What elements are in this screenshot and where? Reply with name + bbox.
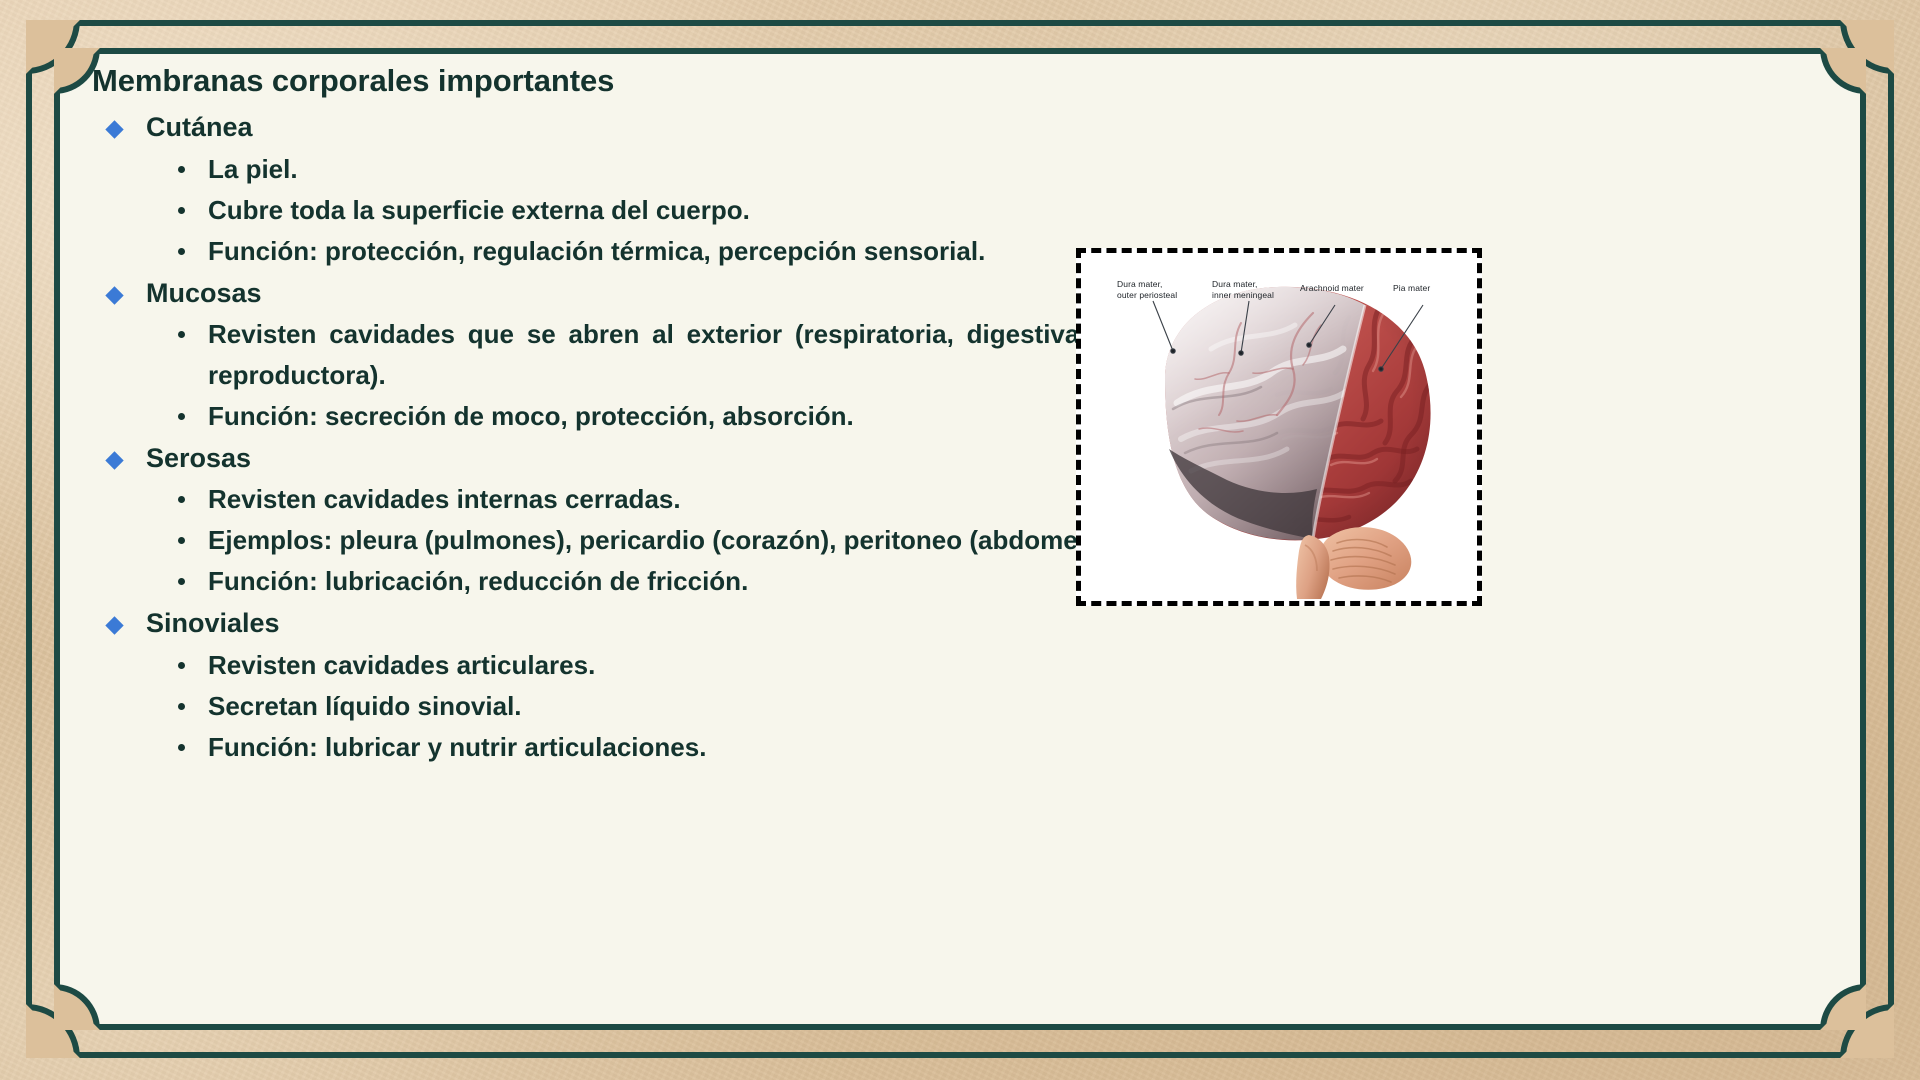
list-item-text: Función: secreción de moco, protección, …: [208, 401, 854, 431]
list-item: Función: lubricar y nutrir articulacione…: [146, 727, 1202, 768]
section-heading: Mucosas: [146, 278, 262, 308]
list-item: Secretan líquido sinovial.: [146, 686, 1202, 727]
dot-bullet-icon: [178, 331, 185, 338]
membrane-list: Cutánea La piel. Cubre toda la superfici…: [92, 106, 1202, 767]
section-heading: Sinoviales: [146, 608, 280, 638]
inner-frame-corner-top-right: [1820, 48, 1866, 94]
list-item: Cubre toda la superficie externa del cue…: [146, 190, 1202, 231]
list-item: Ejemplos: pleura (pulmones), pericardio …: [146, 520, 1202, 561]
section-heading: Serosas: [146, 443, 251, 473]
list-item-text: Cubre toda la superficie externa del cue…: [208, 195, 750, 225]
figure-label-arachnoid: Arachnoid mater: [1300, 283, 1364, 294]
list-item-text: Revisten cavidades internas cerradas.: [208, 484, 681, 514]
dot-bullet-icon: [178, 496, 185, 503]
brain-meninges-illustration: [1081, 253, 1477, 601]
diamond-bullet-icon: [105, 617, 123, 635]
list-item-text: Función: lubricación, reducción de fricc…: [208, 566, 748, 596]
section-mucosas-items: Revisten cavidades que se abren al exter…: [146, 314, 1202, 437]
list-item: La piel.: [146, 149, 1202, 190]
list-item: Revisten cavidades articulares.: [146, 645, 1202, 686]
dot-bullet-icon: [178, 207, 185, 214]
list-item-text: La piel.: [208, 154, 298, 184]
cerebellum-group: [1320, 527, 1411, 590]
section-sinoviales-items: Revisten cavidades articulares. Secretan…: [146, 645, 1202, 768]
inner-frame-corner-bottom-left: [54, 984, 100, 1030]
dot-bullet-icon: [178, 413, 185, 420]
section-serosas-items: Revisten cavidades internas cerradas. Ej…: [146, 479, 1202, 602]
section-heading: Cutánea: [146, 112, 253, 142]
diamond-bullet-icon: [105, 286, 123, 304]
list-item: Función: protección, regulación térmica,…: [146, 231, 1202, 272]
dot-bullet-icon: [178, 703, 185, 710]
page-title: Membranas corporales importantes: [92, 62, 1202, 100]
list-item: Función: lubricación, reducción de fricc…: [146, 561, 1202, 602]
list-item-text: Ejemplos: pleura (pulmones), pericardio …: [208, 525, 1109, 555]
dot-bullet-icon: [178, 662, 185, 669]
dot-bullet-icon: [178, 537, 185, 544]
figure-label-dura-outer: Dura mater, outer periosteal: [1117, 279, 1177, 301]
slide-content: Membranas corporales importantes Cutánea…: [92, 62, 1202, 768]
section-sinoviales: Sinoviales Revisten cavidades articulare…: [92, 602, 1202, 767]
list-item: Revisten cavidades que se abren al exter…: [146, 314, 1202, 396]
diamond-bullet-icon: [105, 121, 123, 139]
dot-bullet-icon: [178, 744, 185, 751]
list-item-text: Revisten cavidades articulares.: [208, 650, 595, 680]
list-item-text: Función: protección, regulación térmica,…: [208, 236, 985, 266]
section-cutanea: Cutánea La piel. Cubre toda la superfici…: [92, 106, 1202, 271]
list-item: Revisten cavidades internas cerradas.: [146, 479, 1202, 520]
list-item: Función: secreción de moco, protección, …: [146, 396, 1202, 437]
figure-label-pia: Pia mater: [1393, 283, 1430, 294]
list-item-text: Secretan líquido sinovial.: [208, 691, 522, 721]
section-cutanea-items: La piel. Cubre toda la superficie extern…: [146, 149, 1202, 272]
dot-bullet-icon: [178, 166, 185, 173]
figure-label-dura-inner: Dura mater, inner meningeal: [1212, 279, 1274, 301]
meninges-figure: Dura mater, outer periosteal Dura mater,…: [1076, 248, 1482, 606]
inner-frame-corner-bottom-right: [1820, 984, 1866, 1030]
diamond-bullet-icon: [105, 451, 123, 469]
dot-bullet-icon: [178, 578, 185, 585]
dot-bullet-icon: [178, 248, 185, 255]
section-serosas: Serosas Revisten cavidades internas cerr…: [92, 437, 1202, 602]
section-mucosas: Mucosas Revisten cavidades que se abren …: [92, 272, 1202, 437]
list-item-text: Revisten cavidades que se abren al exter…: [208, 319, 1202, 390]
meninges-figure-canvas: Dura mater, outer periosteal Dura mater,…: [1081, 253, 1477, 601]
list-item-text: Función: lubricar y nutrir articulacione…: [208, 732, 706, 762]
